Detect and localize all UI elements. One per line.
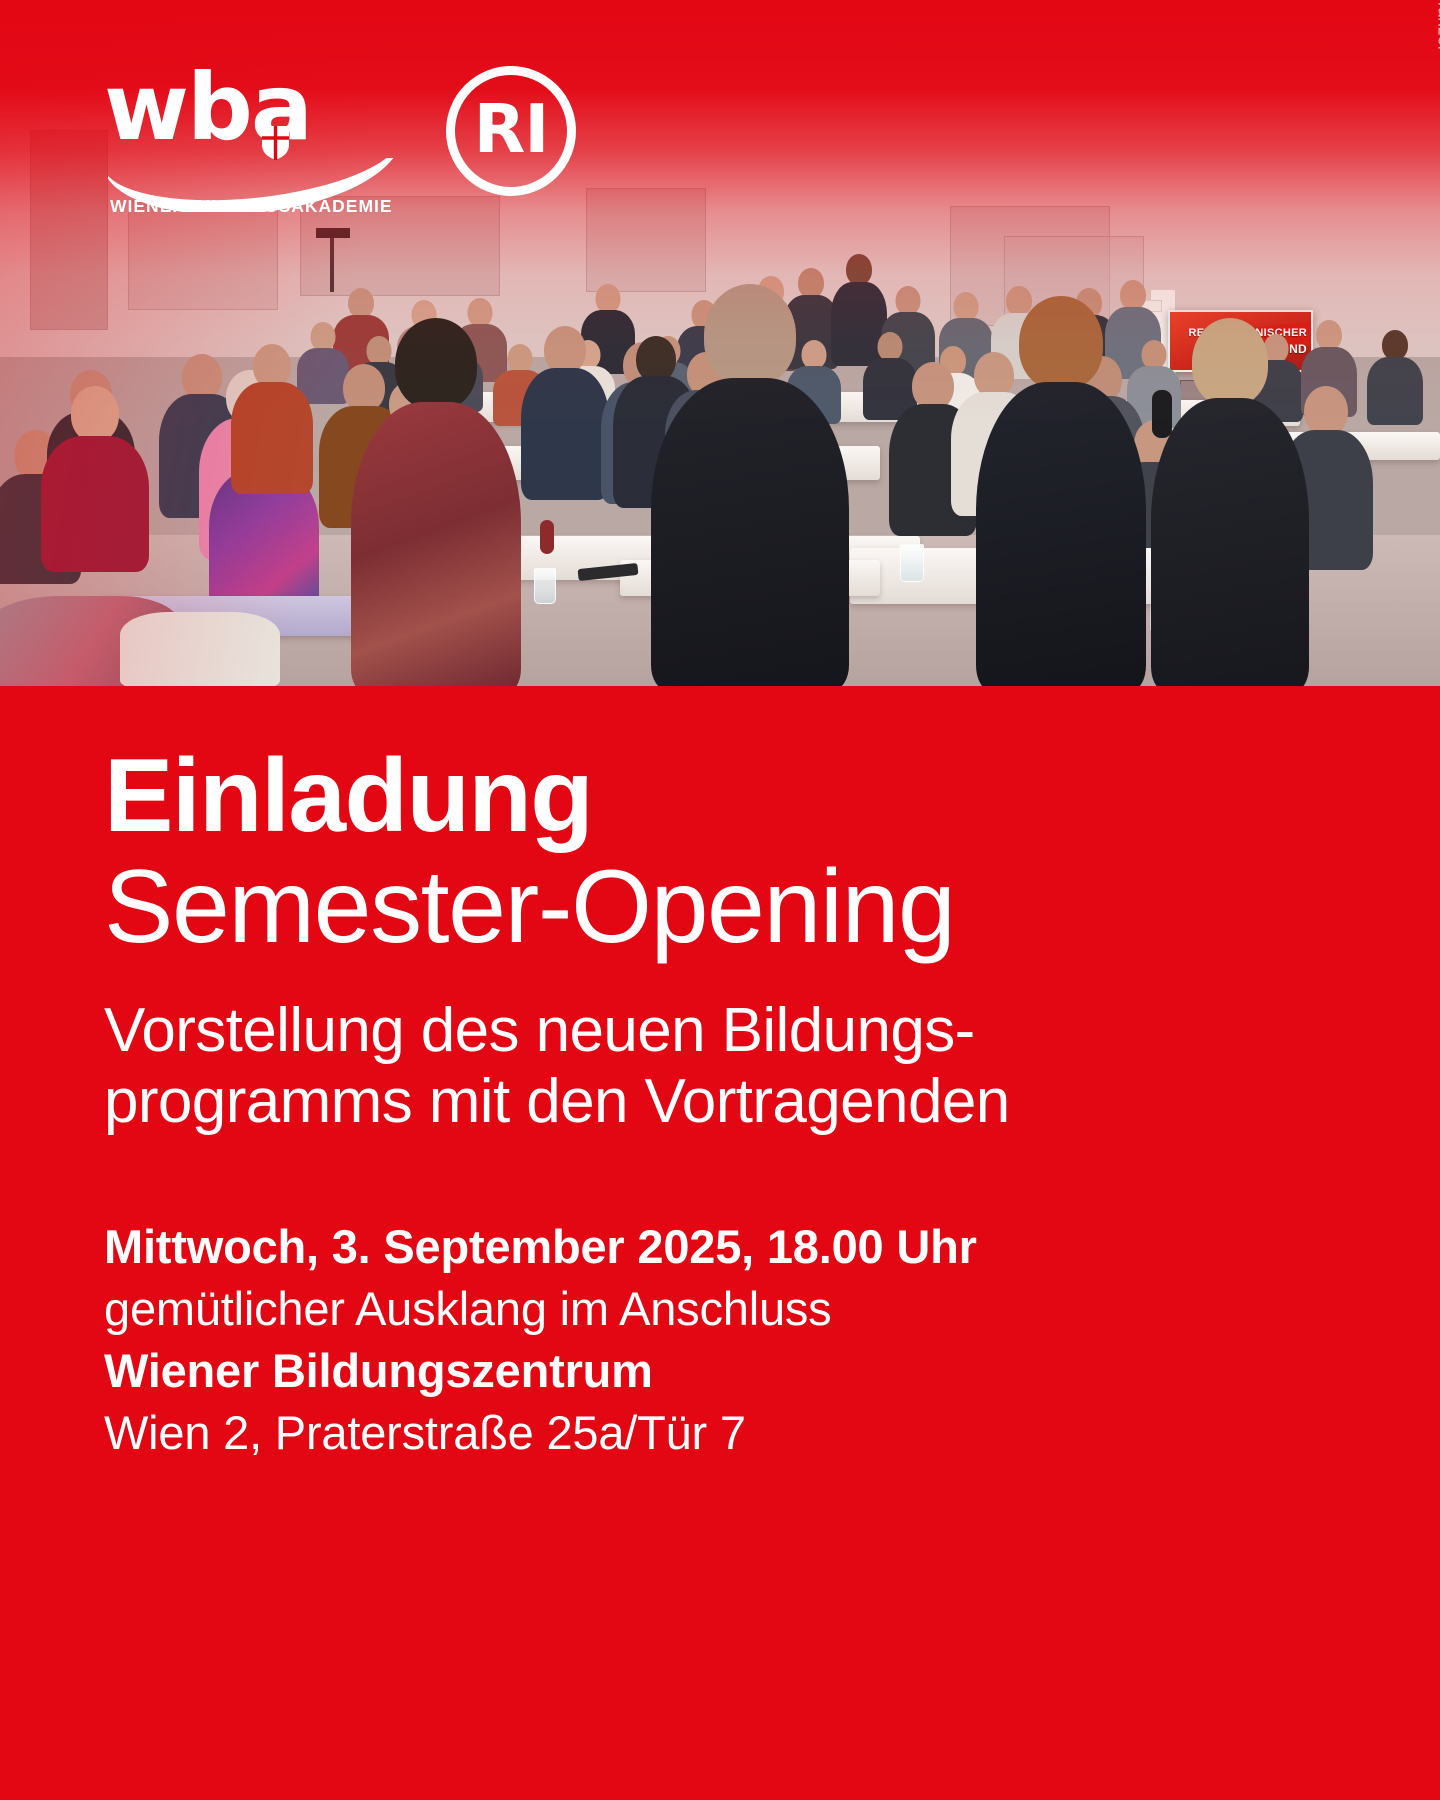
ceiling-lamp xyxy=(640,14,790,24)
audience-person xyxy=(1366,330,1424,422)
speaker-back-right xyxy=(975,296,1147,686)
vienna-shield-icon xyxy=(262,126,289,160)
event-description-line-1: Vorstellung des neuen Bildungs- xyxy=(104,996,1336,1067)
wba-logo: wba WIENER BILDUNGSAKADEMIE xyxy=(104,62,404,222)
handheld-microphone xyxy=(1152,390,1172,438)
event-subtitle: Semester-Opening xyxy=(104,852,1336,962)
event-venue-address: Wien 2, Praterstraße 25a/Tür 7 xyxy=(104,1402,1336,1464)
invitation-poster: REPUBLIKANISCHER SCHUTZBUND xyxy=(0,0,1440,1800)
foreground-blur xyxy=(120,612,280,686)
event-venue-name: Wiener Bildungszentrum xyxy=(104,1340,1336,1402)
moderator-with-microphone xyxy=(1150,318,1310,686)
event-description: Vorstellung des neuen Bildungs- programm… xyxy=(104,996,1336,1137)
ri-logo: RI xyxy=(446,66,576,196)
camera-tripod xyxy=(330,232,334,292)
invitation-content: Einladung Semester-Opening Vorstellung d… xyxy=(0,686,1440,1800)
audience-person xyxy=(230,344,314,490)
ceiling-lamp xyxy=(1180,30,1310,40)
audience-person xyxy=(40,386,150,566)
wall-panel xyxy=(586,188,706,292)
water-glass xyxy=(900,544,924,582)
wall-panel xyxy=(30,130,108,330)
speaker-back-center xyxy=(650,284,850,686)
page-title: Einladung xyxy=(104,742,1336,850)
ri-logo-text: RI xyxy=(474,96,549,163)
wba-logo-subtitle: WIENER BILDUNGSAKADEMIE xyxy=(110,196,393,217)
event-description-line-2: programms mit den Vortragenden xyxy=(104,1067,1336,1138)
ceiling-lamp xyxy=(180,22,300,32)
wba-logo-wordmark: wba xyxy=(104,62,404,154)
camera-tripod xyxy=(316,228,350,238)
microphone xyxy=(540,520,554,554)
photo-credit: © Richard Tanzer xyxy=(1434,0,1440,52)
speaker-back-left xyxy=(350,318,522,686)
event-photo: REPUBLIKANISCHER SCHUTZBUND xyxy=(0,0,1440,686)
event-afterparty-note: gemütlicher Ausklang im Anschluss xyxy=(104,1278,1336,1340)
event-datetime: Mittwoch, 3. September 2025, 18.00 Uhr xyxy=(104,1216,1336,1278)
water-glass xyxy=(534,568,556,604)
audience-person xyxy=(520,326,610,496)
event-details: Mittwoch, 3. September 2025, 18.00 Uhr g… xyxy=(104,1216,1336,1464)
